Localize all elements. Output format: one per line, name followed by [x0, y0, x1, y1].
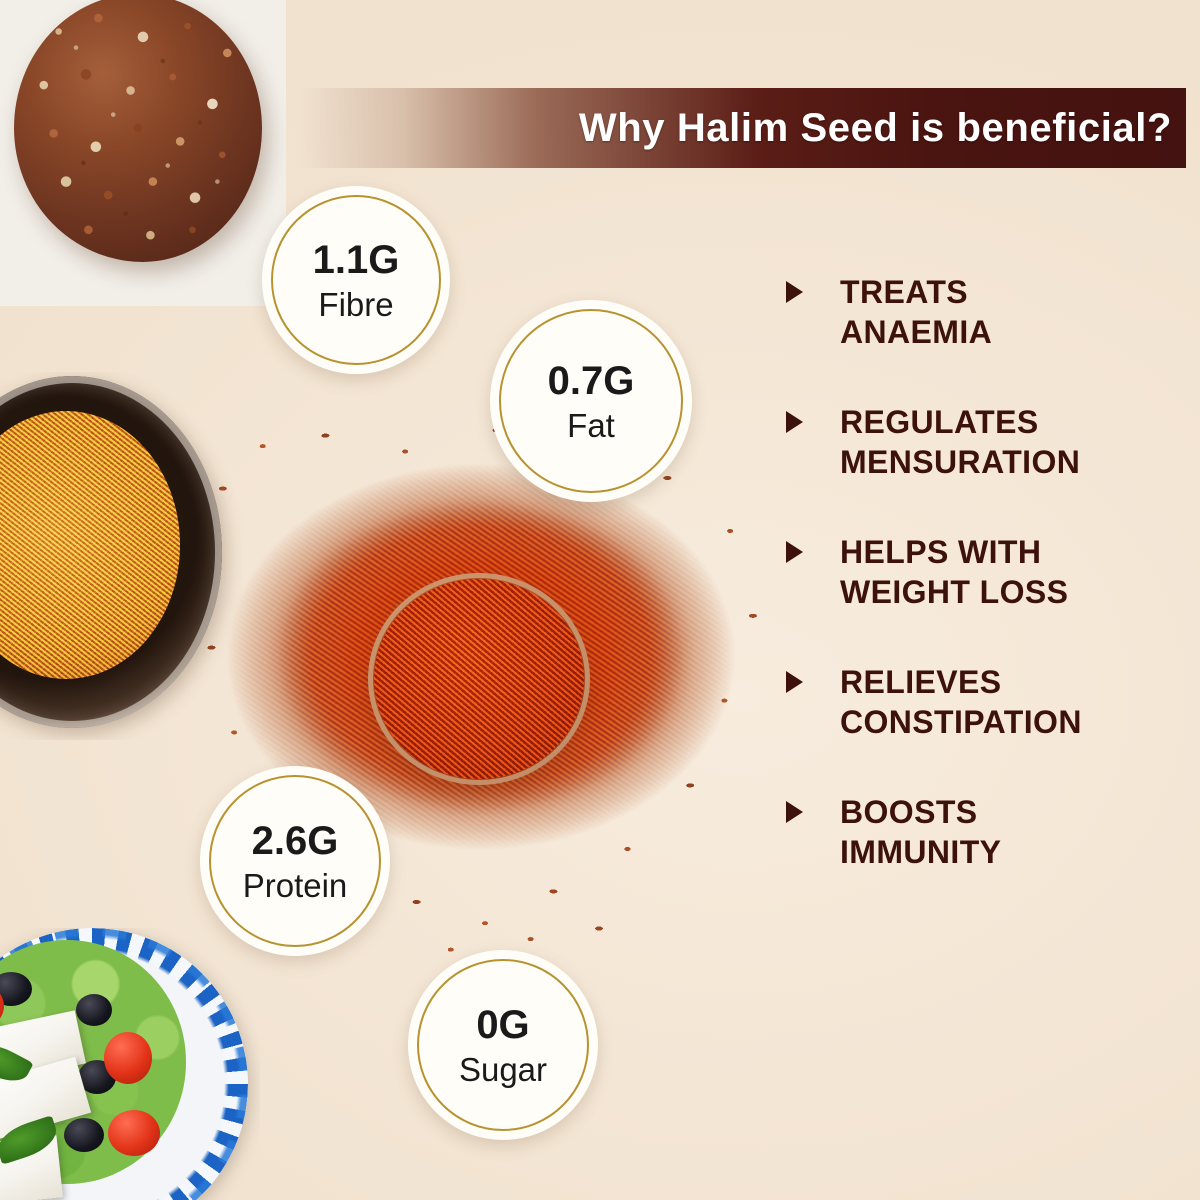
tomato-icon: [104, 1032, 152, 1084]
triangle-right-icon: [786, 281, 803, 303]
halim-seed-infographic: Why Halim Seed is beneficial? 1.1G Fibre…: [0, 0, 1200, 1200]
bowl-rim: [0, 376, 222, 728]
triangle-right-icon: [786, 541, 803, 563]
benefit-item: REGULATES MENSURATION: [786, 402, 1186, 482]
nutrient-label: Fat: [567, 409, 615, 442]
nutrient-badge-sugar: 0G Sugar: [408, 950, 598, 1140]
triangle-right-icon: [786, 801, 803, 823]
nutrient-badge-fibre: 1.1G Fibre: [262, 186, 450, 374]
nutrient-label: Fibre: [318, 288, 393, 321]
nutrient-value: 1.1G: [313, 240, 400, 280]
benefit-label: HELPS WITH WEIGHT LOSS: [840, 532, 1068, 612]
nutrient-value: 2.6G: [252, 821, 339, 861]
tomato-icon: [108, 1110, 160, 1156]
salad-plate: [0, 928, 248, 1200]
benefit-label: TREATS ANAEMIA: [840, 272, 992, 352]
olive-icon: [64, 1118, 104, 1152]
benefit-label: REGULATES MENSURATION: [840, 402, 1080, 482]
seed-ball-shape: [14, 0, 262, 262]
benefit-item: RELIEVES CONSTIPATION: [786, 662, 1186, 742]
nutrient-label: Sugar: [459, 1053, 547, 1086]
nutrient-value: 0.7G: [548, 361, 635, 401]
greek-salad-photo: [0, 928, 260, 1200]
page-title: Why Halim Seed is beneficial?: [579, 106, 1172, 151]
nutrient-value: 0G: [476, 1005, 529, 1045]
benefit-item: HELPS WITH WEIGHT LOSS: [786, 532, 1186, 612]
benefit-item: TREATS ANAEMIA: [786, 272, 1186, 352]
benefit-item: BOOSTS IMMUNITY: [786, 792, 1186, 872]
benefit-label: RELIEVES CONSTIPATION: [840, 662, 1082, 742]
nutrient-label: Protein: [243, 869, 348, 902]
triangle-right-icon: [786, 411, 803, 433]
benefits-list: TREATS ANAEMIA REGULATES MENSURATION HEL…: [786, 272, 1186, 872]
nutrient-badge-protein: 2.6G Protein: [200, 766, 390, 956]
olive-icon: [76, 994, 112, 1026]
title-banner: Why Halim Seed is beneficial?: [296, 88, 1186, 168]
benefit-label: BOOSTS IMMUNITY: [840, 792, 1001, 872]
seed-ball-photo: [0, 0, 286, 306]
triangle-right-icon: [786, 671, 803, 693]
glass-bowl-shape: [0, 376, 222, 728]
nutrient-badge-fat: 0.7G Fat: [490, 300, 692, 502]
seed-ball-texture-detail: [14, 0, 262, 262]
